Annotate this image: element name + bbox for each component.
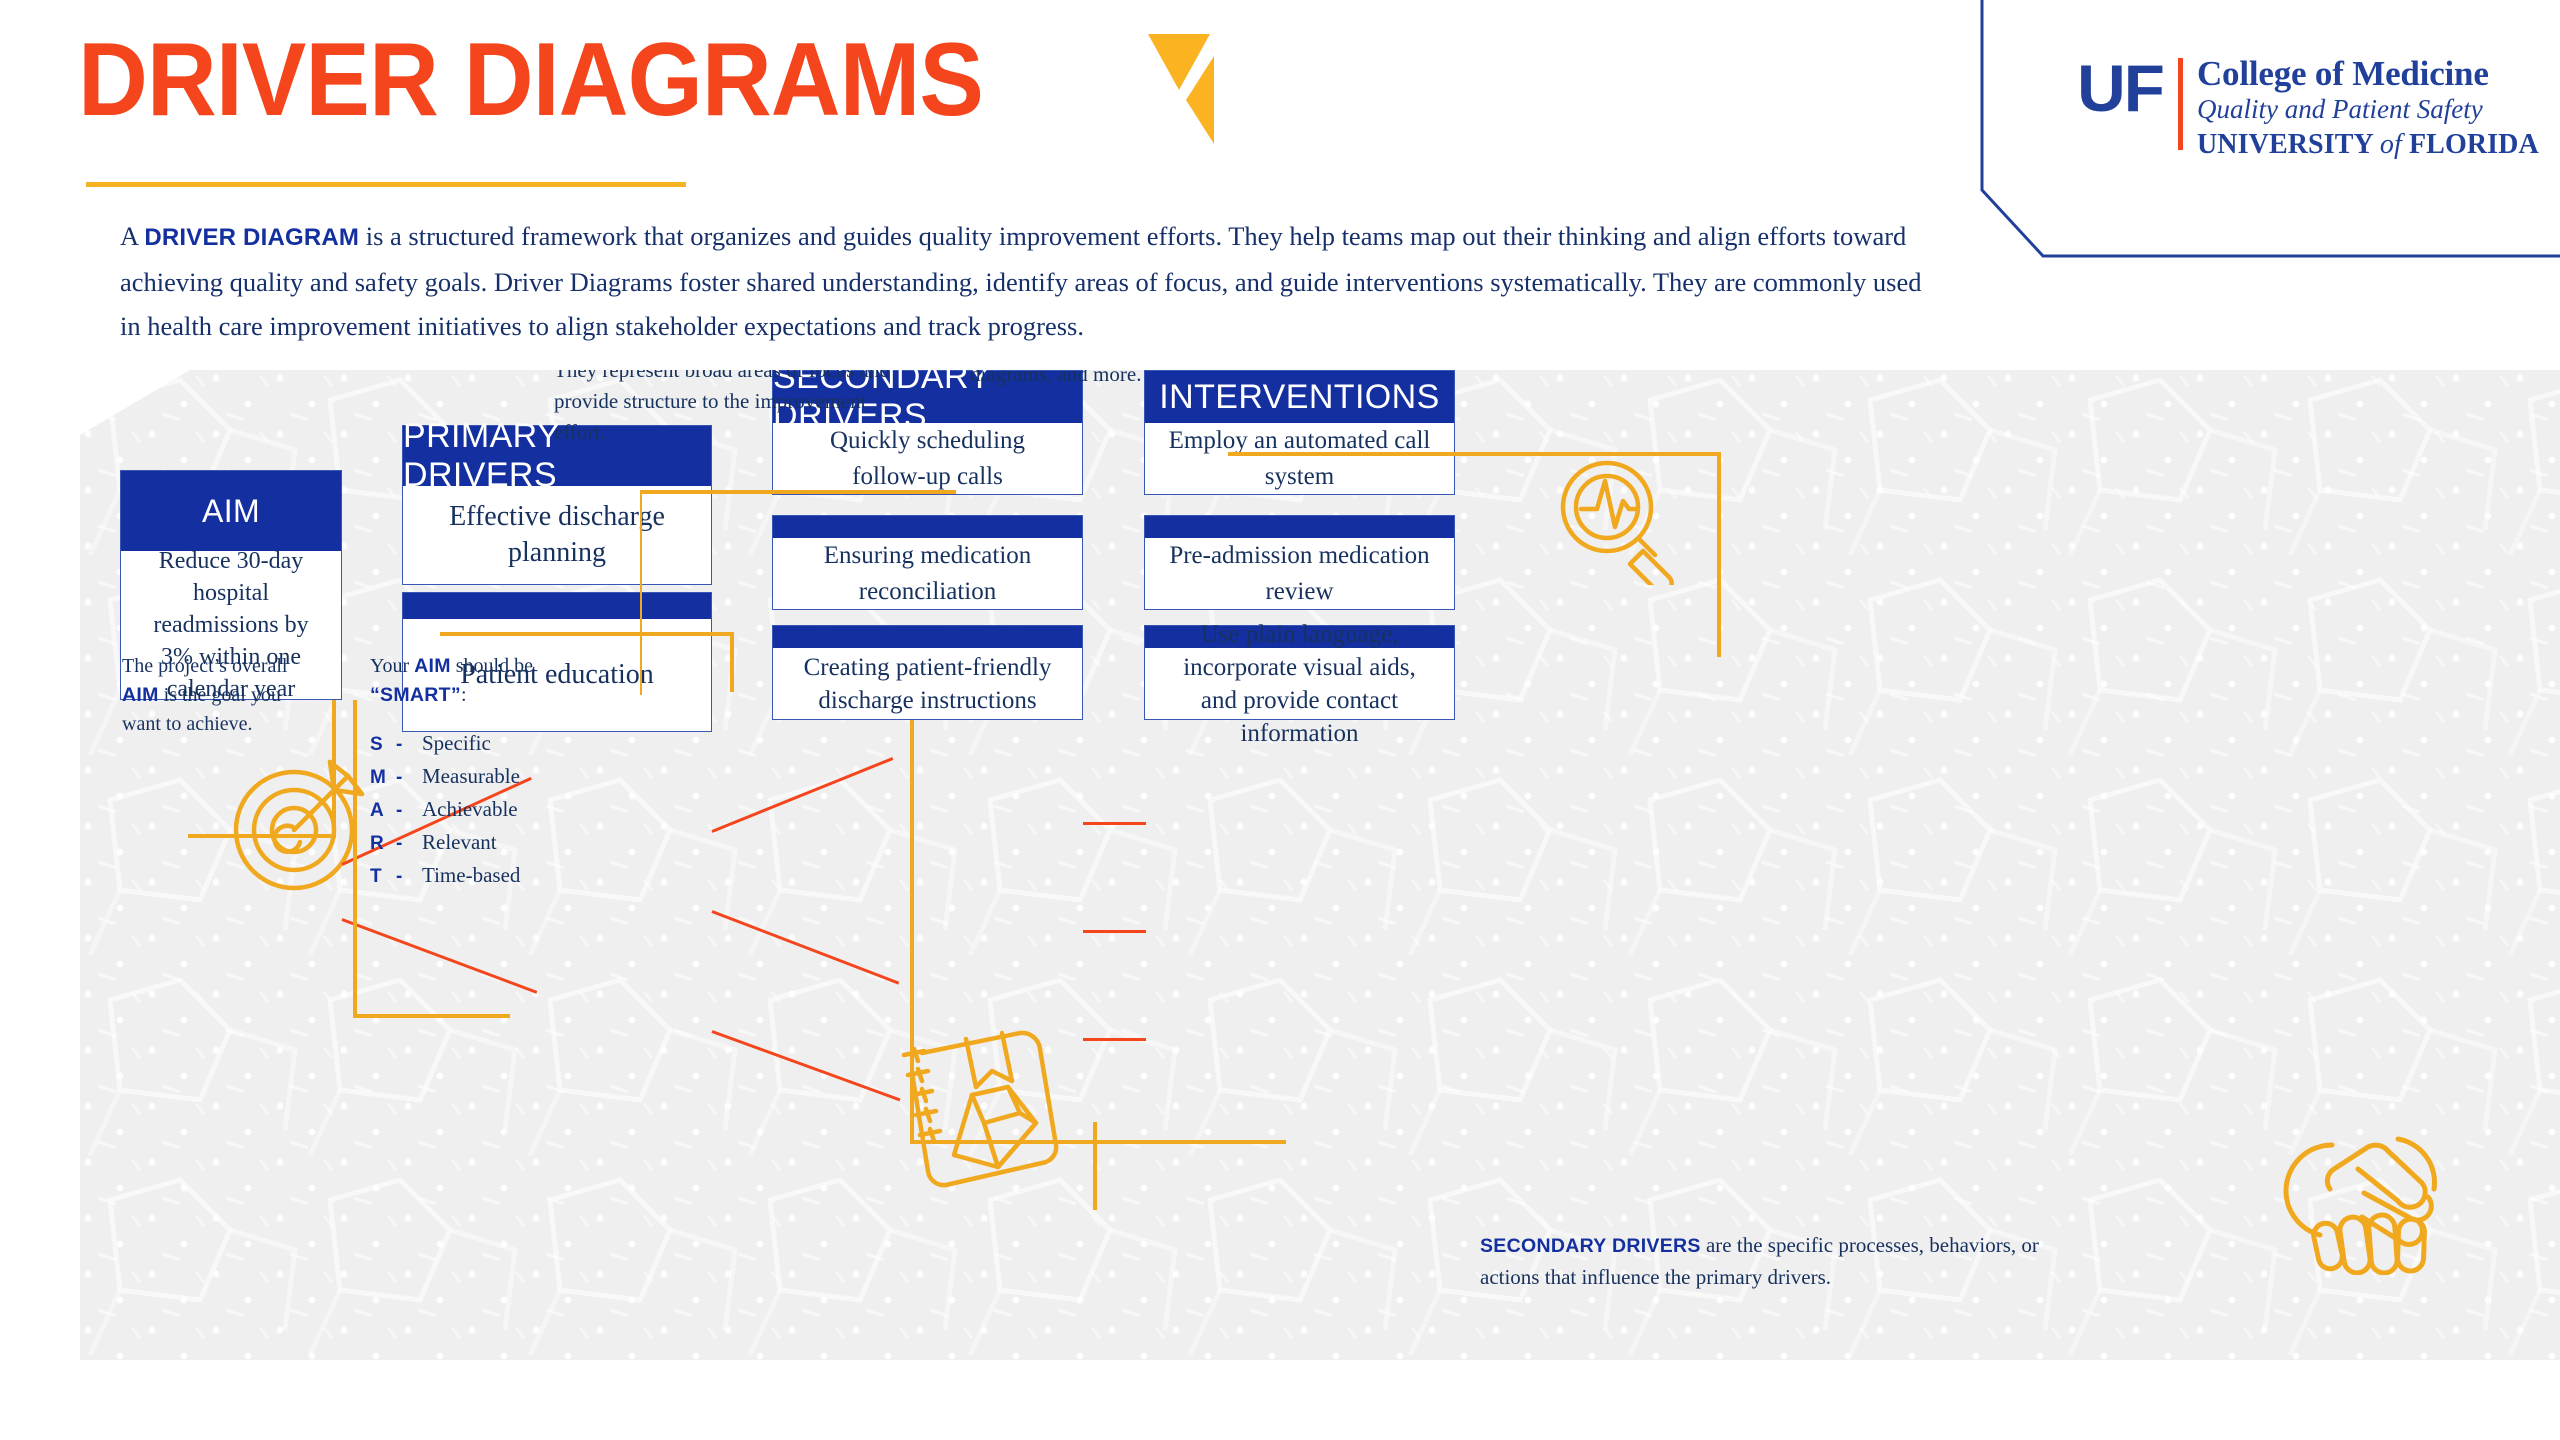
diagram-panel: AIM Reduce 30-day hospital readmissions … (80, 370, 2560, 1360)
handshake-icon (2272, 1135, 2452, 1275)
note-primary-2: PRIMARY DRIVERS can be identified using … (970, 370, 1370, 390)
chevron-mark-icon (1148, 34, 1222, 144)
smart-row: R - Relevant (370, 828, 560, 858)
note-smart-lead: Your (370, 655, 414, 677)
note-aim-lead: The project’s overall (122, 655, 288, 677)
note-primary-1-rest: are the major factors or domains that di… (554, 370, 918, 444)
intro-paragraph: A DRIVER DIAGRAM is a structured framewo… (120, 214, 1930, 348)
logo-university-of: of (2380, 129, 2402, 160)
uf-monogram: UF (2077, 56, 2163, 120)
smart-row: S - Specific (370, 729, 560, 759)
aim-box-header: AIM (121, 471, 341, 551)
smart-key: T (370, 862, 396, 891)
note-smart-tail: : (461, 684, 467, 706)
note-secondary-bold: SECONDARY DRIVERS (1480, 1235, 1701, 1257)
intro-lead: A (120, 221, 138, 251)
smart-dash: - (396, 829, 422, 858)
intro-rest: is a structured framework that organizes… (120, 221, 1921, 341)
logo-university-b: FLORIDA (2402, 129, 2539, 160)
smart-dash: - (396, 862, 422, 891)
note-smart-bold: AIM (414, 655, 451, 677)
smart-value: Measurable (422, 762, 520, 791)
smart-dash: - (396, 796, 422, 825)
smart-dash: - (396, 763, 422, 792)
logo-university-a: UNIVERSITY (2197, 129, 2380, 160)
logo-college-line: College of Medicine (2197, 56, 2539, 93)
note-smart-bold2: “SMART” (370, 684, 461, 706)
intro-bold-term: DRIVER DIAGRAM (144, 224, 359, 251)
smart-key: M (370, 763, 396, 792)
logo-university-line: UNIVERSITY of FLORIDA (2197, 127, 2539, 162)
smart-value: Relevant (422, 828, 497, 857)
note-aim: The project’s overall AIM is the goal yo… (122, 652, 322, 739)
note-primary-1: PRIMARY DRIVERS are the major factors or… (554, 370, 922, 448)
smart-value: Specific (422, 729, 491, 758)
smart-row: T - Time-based (370, 861, 560, 891)
smart-key: A (370, 796, 396, 825)
note-secondary: SECONDARY DRIVERS are the specific proce… (1480, 1230, 2040, 1293)
smart-value: Achievable (422, 795, 518, 824)
bracket-primary-note-2 (640, 490, 960, 700)
page-title: DRIVER DIAGRAMS (78, 28, 983, 132)
smart-key: S (370, 730, 396, 759)
note-smart: Your AIM should be “SMART”: S - Specific… (370, 652, 560, 891)
title-underline (86, 182, 686, 187)
bracket-secondary-note-left (1092, 1122, 1106, 1212)
note-primary-2-rest: can be identified using a variety of met… (970, 370, 1366, 386)
logo-divider-bar (2178, 58, 2183, 150)
smart-row: A - Achievable (370, 795, 560, 825)
smart-row: M - Measurable (370, 762, 560, 792)
logo-department-line: Quality and Patient Safety (2197, 93, 2539, 127)
smart-dash: - (396, 730, 422, 759)
smart-value: Time-based (422, 861, 520, 890)
note-smart-heading: Your AIM should be “SMART”: (370, 652, 560, 710)
note-aim-bold: AIM (122, 684, 159, 706)
note-smart-mid: should be (451, 655, 533, 677)
smart-key: R (370, 829, 396, 858)
infographic-canvas: DRIVER DIAGRAMS A DRIVER DIAGRAM is a st… (0, 0, 2560, 1440)
uf-logo-block: UF College of Medicine Quality and Patie… (1968, 0, 2560, 266)
bracket-interventions-note (1228, 452, 1723, 662)
